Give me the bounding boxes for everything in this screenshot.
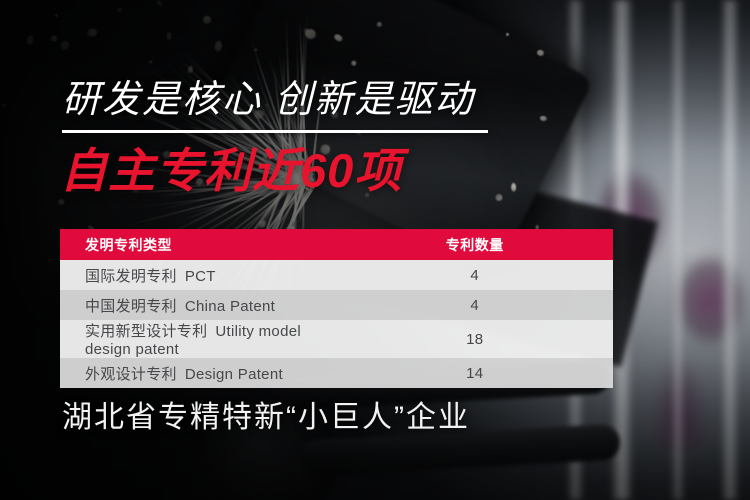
patent-type-en: Design Patent <box>185 366 283 383</box>
patent-type-en: PCT <box>185 268 216 285</box>
cell-patent-count: 4 <box>337 290 614 320</box>
cell-patent-count: 18 <box>337 320 614 358</box>
patent-type-en: China Patent <box>185 298 275 315</box>
cell-patent-type: 中国发明专利China Patent <box>60 290 337 320</box>
footer-caption: 湖北省专精特新“小巨人”企业 <box>62 398 470 438</box>
patent-banner: 研发是核心 创新是驱动 自主专利近60项 发明专利类型 专利数量 国际发明专利P… <box>0 0 750 500</box>
cell-patent-type: 外观设计专利Design Patent <box>60 358 337 388</box>
patent-type-cn: 外观设计专利 <box>85 366 177 383</box>
cell-patent-type: 实用新型设计专利Utility model design patent <box>60 320 337 358</box>
patent-type-cn: 中国发明专利 <box>85 298 177 315</box>
patent-type-cn: 国际发明专利 <box>85 268 177 285</box>
cell-patent-count: 4 <box>337 260 614 290</box>
column-header-count: 专利数量 <box>337 229 614 260</box>
banner-content: 研发是核心 创新是驱动 自主专利近60项 发明专利类型 专利数量 国际发明专利P… <box>0 0 750 500</box>
column-header-type: 发明专利类型 <box>60 229 337 260</box>
patent-table-head: 发明专利类型 专利数量 <box>60 229 613 260</box>
cell-patent-type: 国际发明专利PCT <box>60 260 337 290</box>
patent-table: 发明专利类型 专利数量 国际发明专利PCT4中国发明专利China Patent… <box>60 229 613 388</box>
table-header-row: 发明专利类型 专利数量 <box>60 229 613 260</box>
headline-secondary: 自主专利近60项 <box>60 143 402 199</box>
cell-patent-count: 14 <box>337 358 614 388</box>
table-row: 国际发明专利PCT4 <box>60 260 613 290</box>
headline-primary: 研发是核心 创新是驱动 <box>62 78 475 122</box>
patent-type-cn: 实用新型设计专利 <box>85 323 207 340</box>
headline-divider <box>62 130 488 133</box>
table-row: 外观设计专利Design Patent14 <box>60 358 613 388</box>
patent-table-body: 国际发明专利PCT4中国发明专利China Patent4实用新型设计专利Uti… <box>60 260 613 388</box>
table-row: 实用新型设计专利Utility model design patent18 <box>60 320 613 358</box>
table-row: 中国发明专利China Patent4 <box>60 290 613 320</box>
